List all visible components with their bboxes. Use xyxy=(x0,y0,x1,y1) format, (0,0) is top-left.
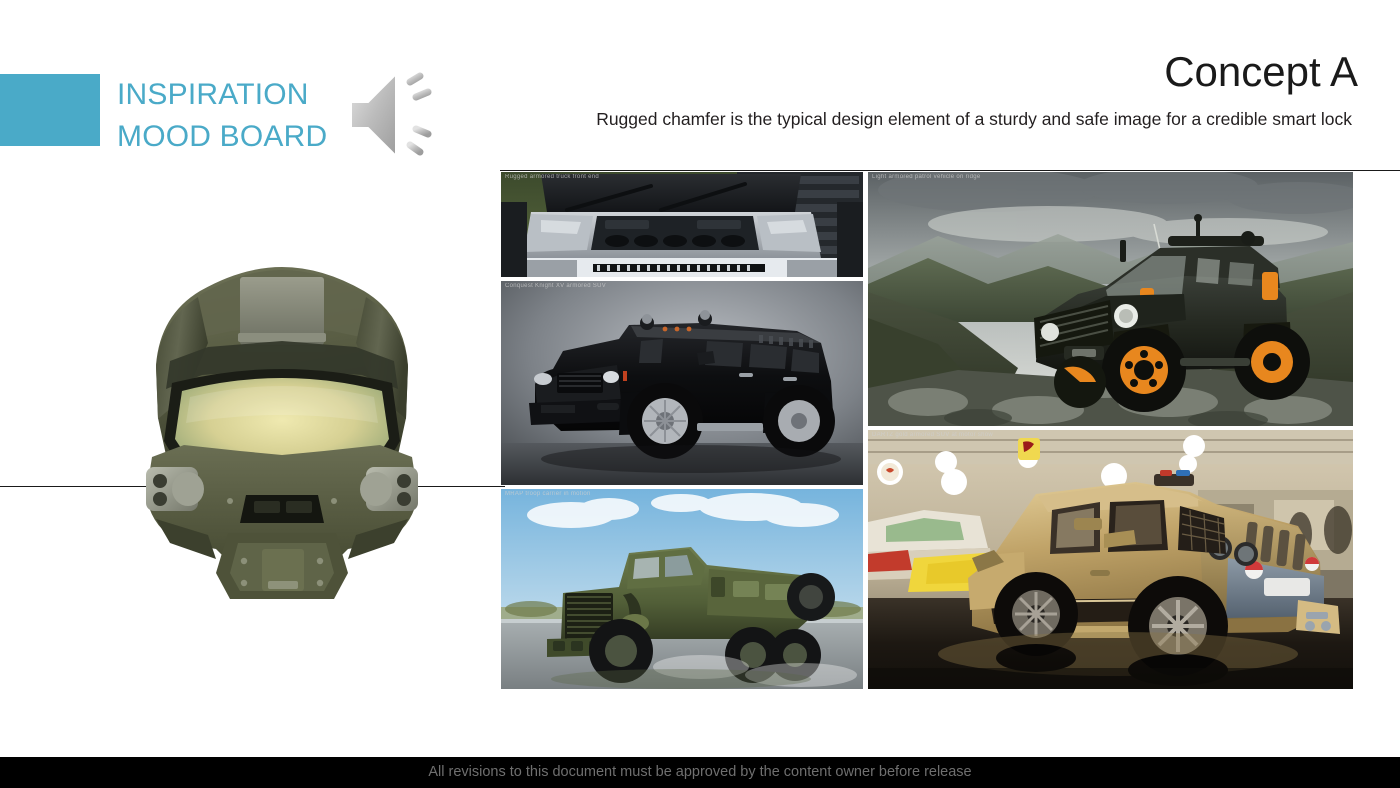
divider-top xyxy=(500,170,1400,171)
page-subtitle: Rugged chamfer is the typical design ele… xyxy=(582,107,1352,131)
armored-truck-grille-photo: Rugged armored truck front end xyxy=(501,172,863,277)
footer-bar: All revisions to this document must be a… xyxy=(0,757,1400,788)
military-mrap-truck-photo: MRAP troop carrier in motion xyxy=(501,489,863,689)
header-title-line2: MOOD BOARD xyxy=(117,116,357,158)
military-helmet xyxy=(112,243,452,643)
photo-caption: Rugged armored truck front end xyxy=(505,174,599,180)
photo-caption: Light armored patrol vehicle on ridge xyxy=(872,174,981,180)
offroad-military-4x4-photo: Light armored patrol vehicle on ridge xyxy=(868,172,1353,426)
accent-block xyxy=(0,74,100,146)
header-title-line1: INSPIRATION xyxy=(117,74,357,116)
photo-caption: DARTZ gold armored SUV at motor show xyxy=(872,432,993,438)
photo-caption: Conquest Knight XV armored SUV xyxy=(505,283,606,289)
speaker-icon[interactable] xyxy=(344,63,442,167)
gold-armored-suv-photo: DARTZ gold armored SUV at motor show xyxy=(868,430,1353,689)
photo-caption: MRAP troop carrier in motion xyxy=(505,491,591,497)
page-title: Concept A xyxy=(1164,48,1358,96)
footer-text: All revisions to this document must be a… xyxy=(0,757,1400,788)
black-armored-suv-photo: Conquest Knight XV armored SUV xyxy=(501,281,863,485)
header-title: INSPIRATION MOOD BOARD xyxy=(117,74,357,158)
